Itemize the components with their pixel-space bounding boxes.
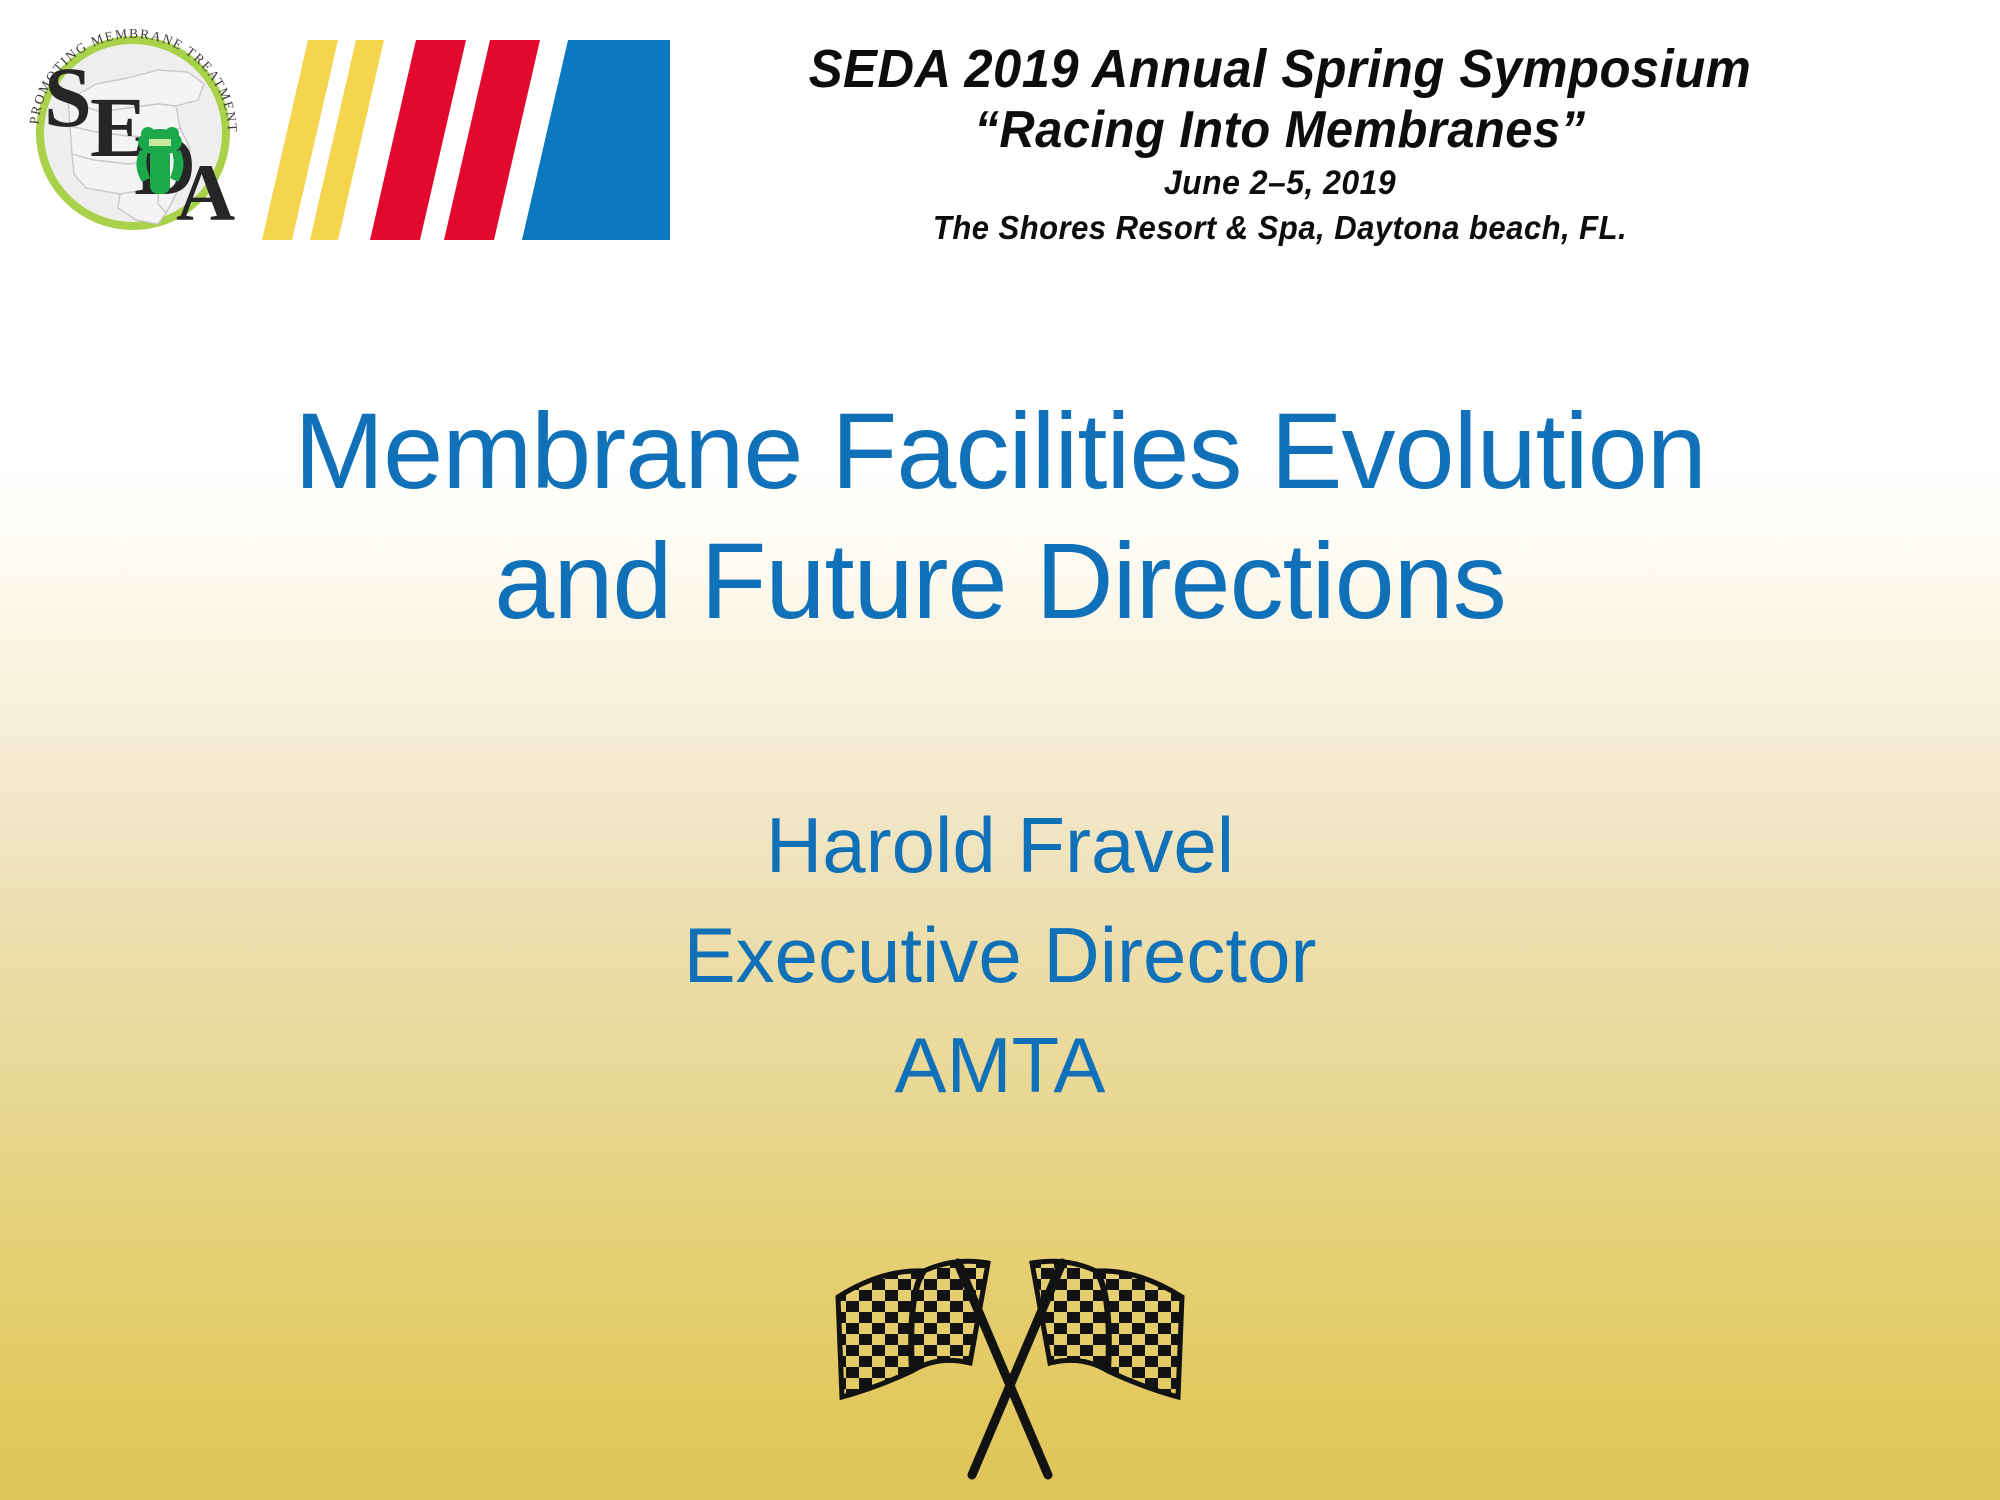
presenter-role: Executive Director — [100, 900, 1900, 1010]
symposium-venue-line: The Shores Resort & Spa, Daytona beach, … — [725, 206, 1834, 250]
symposium-theme-line: “Racing Into Membranes” — [725, 100, 1834, 160]
page-title-line-2: and Future Directions — [100, 516, 1900, 646]
symposium-title-line: SEDA 2019 Annual Spring Symposium — [725, 38, 1834, 100]
symposium-banner-text: SEDA 2019 Annual Spring Symposium “Racin… — [690, 38, 1870, 250]
presenter-organization: AMTA — [100, 1010, 1900, 1120]
page-title-line-1: Membrane Facilities Evolution — [100, 386, 1900, 516]
presentation-slide: S E D A SERVING AND PROMOTING — [0, 0, 2000, 1500]
page-title: Membrane Facilities Evolution and Future… — [100, 386, 1900, 646]
presenter-block: Harold Fravel Executive Director AMTA — [100, 790, 1900, 1120]
slide-header: S E D A SERVING AND PROMOTING — [0, 0, 2000, 300]
svg-text:A: A — [176, 147, 235, 238]
racing-stripes-graphic — [250, 40, 670, 240]
presenter-name: Harold Fravel — [100, 790, 1900, 900]
seda-logo: S E D A SERVING AND PROMOTING — [8, 8, 258, 258]
symposium-dates-line: June 2–5, 2019 — [725, 160, 1834, 206]
checkered-flags-icon — [820, 1235, 1200, 1500]
